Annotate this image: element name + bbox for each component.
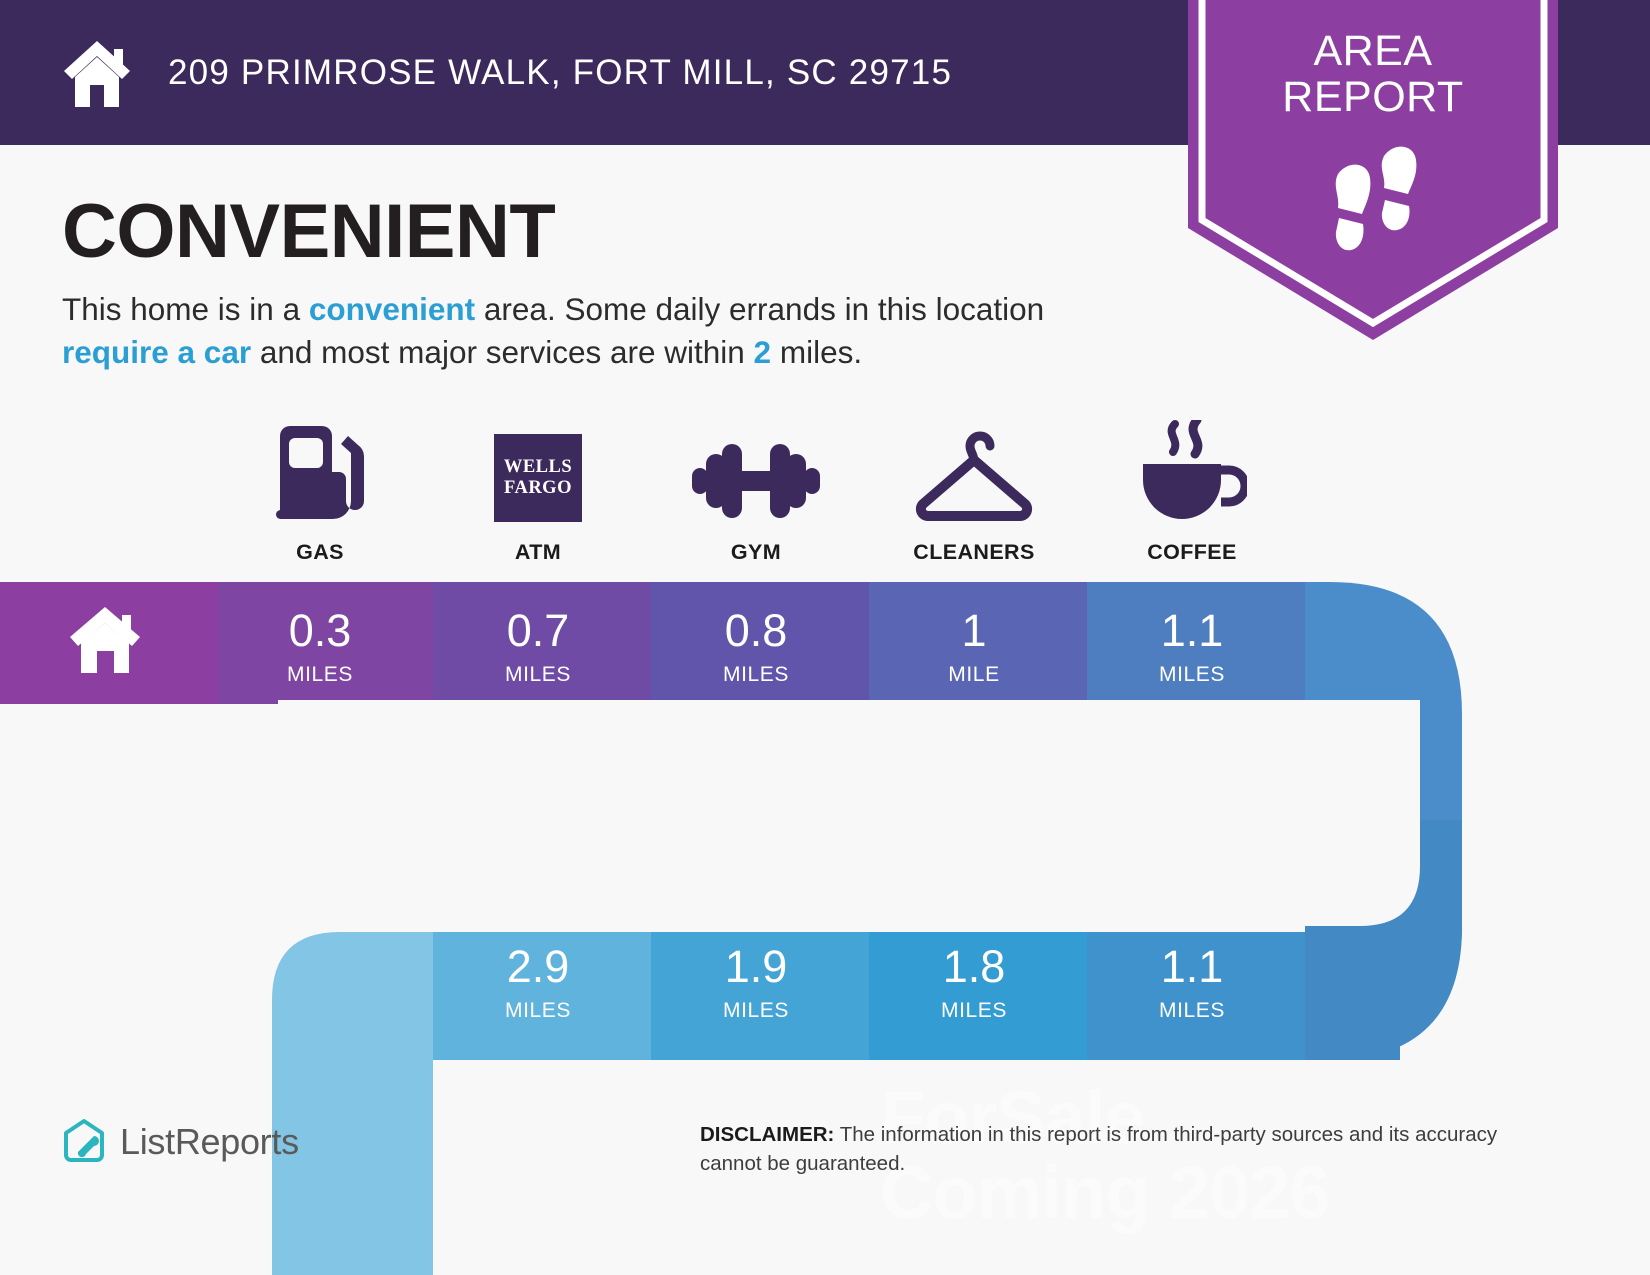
distance-cleaners: 1 MILE [865,608,1083,687]
distance-unit: MILES [429,999,647,1023]
listreports-logo: ListReports [62,1118,299,1166]
distance-atm: 0.7 MILES [429,608,647,687]
distance-unit: MILES [1083,999,1301,1023]
home-marker-icon [66,605,144,675]
distance-groceries: 1.1 MILES [1083,944,1301,1023]
area-report-infographic: 209 PRIMROSE WALK, FORT MILL, SC 29715 A… [0,0,1650,1275]
distance-value: 0.7 [429,608,647,653]
distance-gas: 0.3 MILES [211,608,429,687]
distance-value: 1.9 [647,944,865,989]
distance-pharmacy: 1.8 MILES [865,944,1083,1023]
distance-unit: MILE [865,663,1083,687]
listreports-wordmark: ListReports [120,1121,299,1163]
distance-value: 1.8 [865,944,1083,989]
disclaimer: DISCLAIMER: The information in this repo… [700,1120,1520,1178]
distance-unit: MILES [647,663,865,687]
distance-movie-theater: 2.9 MILES [429,944,647,1023]
banner-line-1: AREA [1188,28,1558,74]
disclaimer-label: DISCLAIMER: [700,1123,834,1146]
distance-unit: MILES [429,663,647,687]
distance-coffee: 1.1 MILES [1083,608,1301,687]
distance-unit: MILES [1083,663,1301,687]
distance-gym: 0.8 MILES [647,608,865,687]
distance-unit: MILES [865,999,1083,1023]
distance-value: 0.3 [211,608,429,653]
banner-line-2: REPORT [1188,74,1558,120]
banner-title: AREA REPORT [1188,28,1558,120]
distance-unit: MILES [647,999,865,1023]
listreports-house-icon [62,1118,106,1166]
distance-unit: MILES [211,663,429,687]
distance-value: 1 [865,608,1083,653]
distance-value: 2.9 [429,944,647,989]
distance-value: 1.1 [1083,944,1301,989]
distance-value: 1.1 [1083,608,1301,653]
distance-medical: 1.9 MILES [647,944,865,1023]
area-report-banner: AREA REPORT [1188,0,1558,342]
distance-value: 0.8 [647,608,865,653]
